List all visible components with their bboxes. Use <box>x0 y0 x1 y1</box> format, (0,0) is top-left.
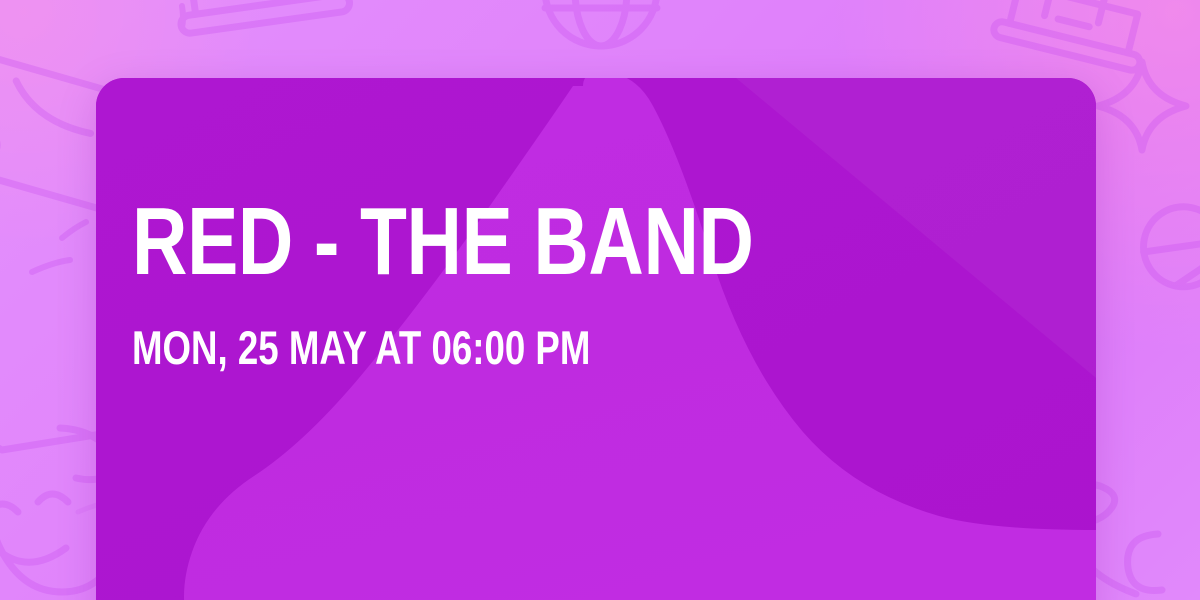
marquee-icon <box>992 0 1154 72</box>
event-datetime: MON, 25 MAY AT 06:00 PM <box>132 324 631 371</box>
microphone-icon <box>1128 191 1200 329</box>
globe-icon <box>545 0 657 46</box>
stage-icon <box>170 0 350 34</box>
event-banner: RED - THE BAND MON, 25 MAY AT 06:00 PM <box>0 0 1200 600</box>
event-card[interactable]: RED - THE BAND MON, 25 MAY AT 06:00 PM <box>96 78 1096 600</box>
sparkle-icon <box>1098 62 1186 150</box>
event-title: RED - THE BAND <box>132 196 644 288</box>
event-card-content: RED - THE BAND MON, 25 MAY AT 06:00 PM <box>132 196 772 371</box>
